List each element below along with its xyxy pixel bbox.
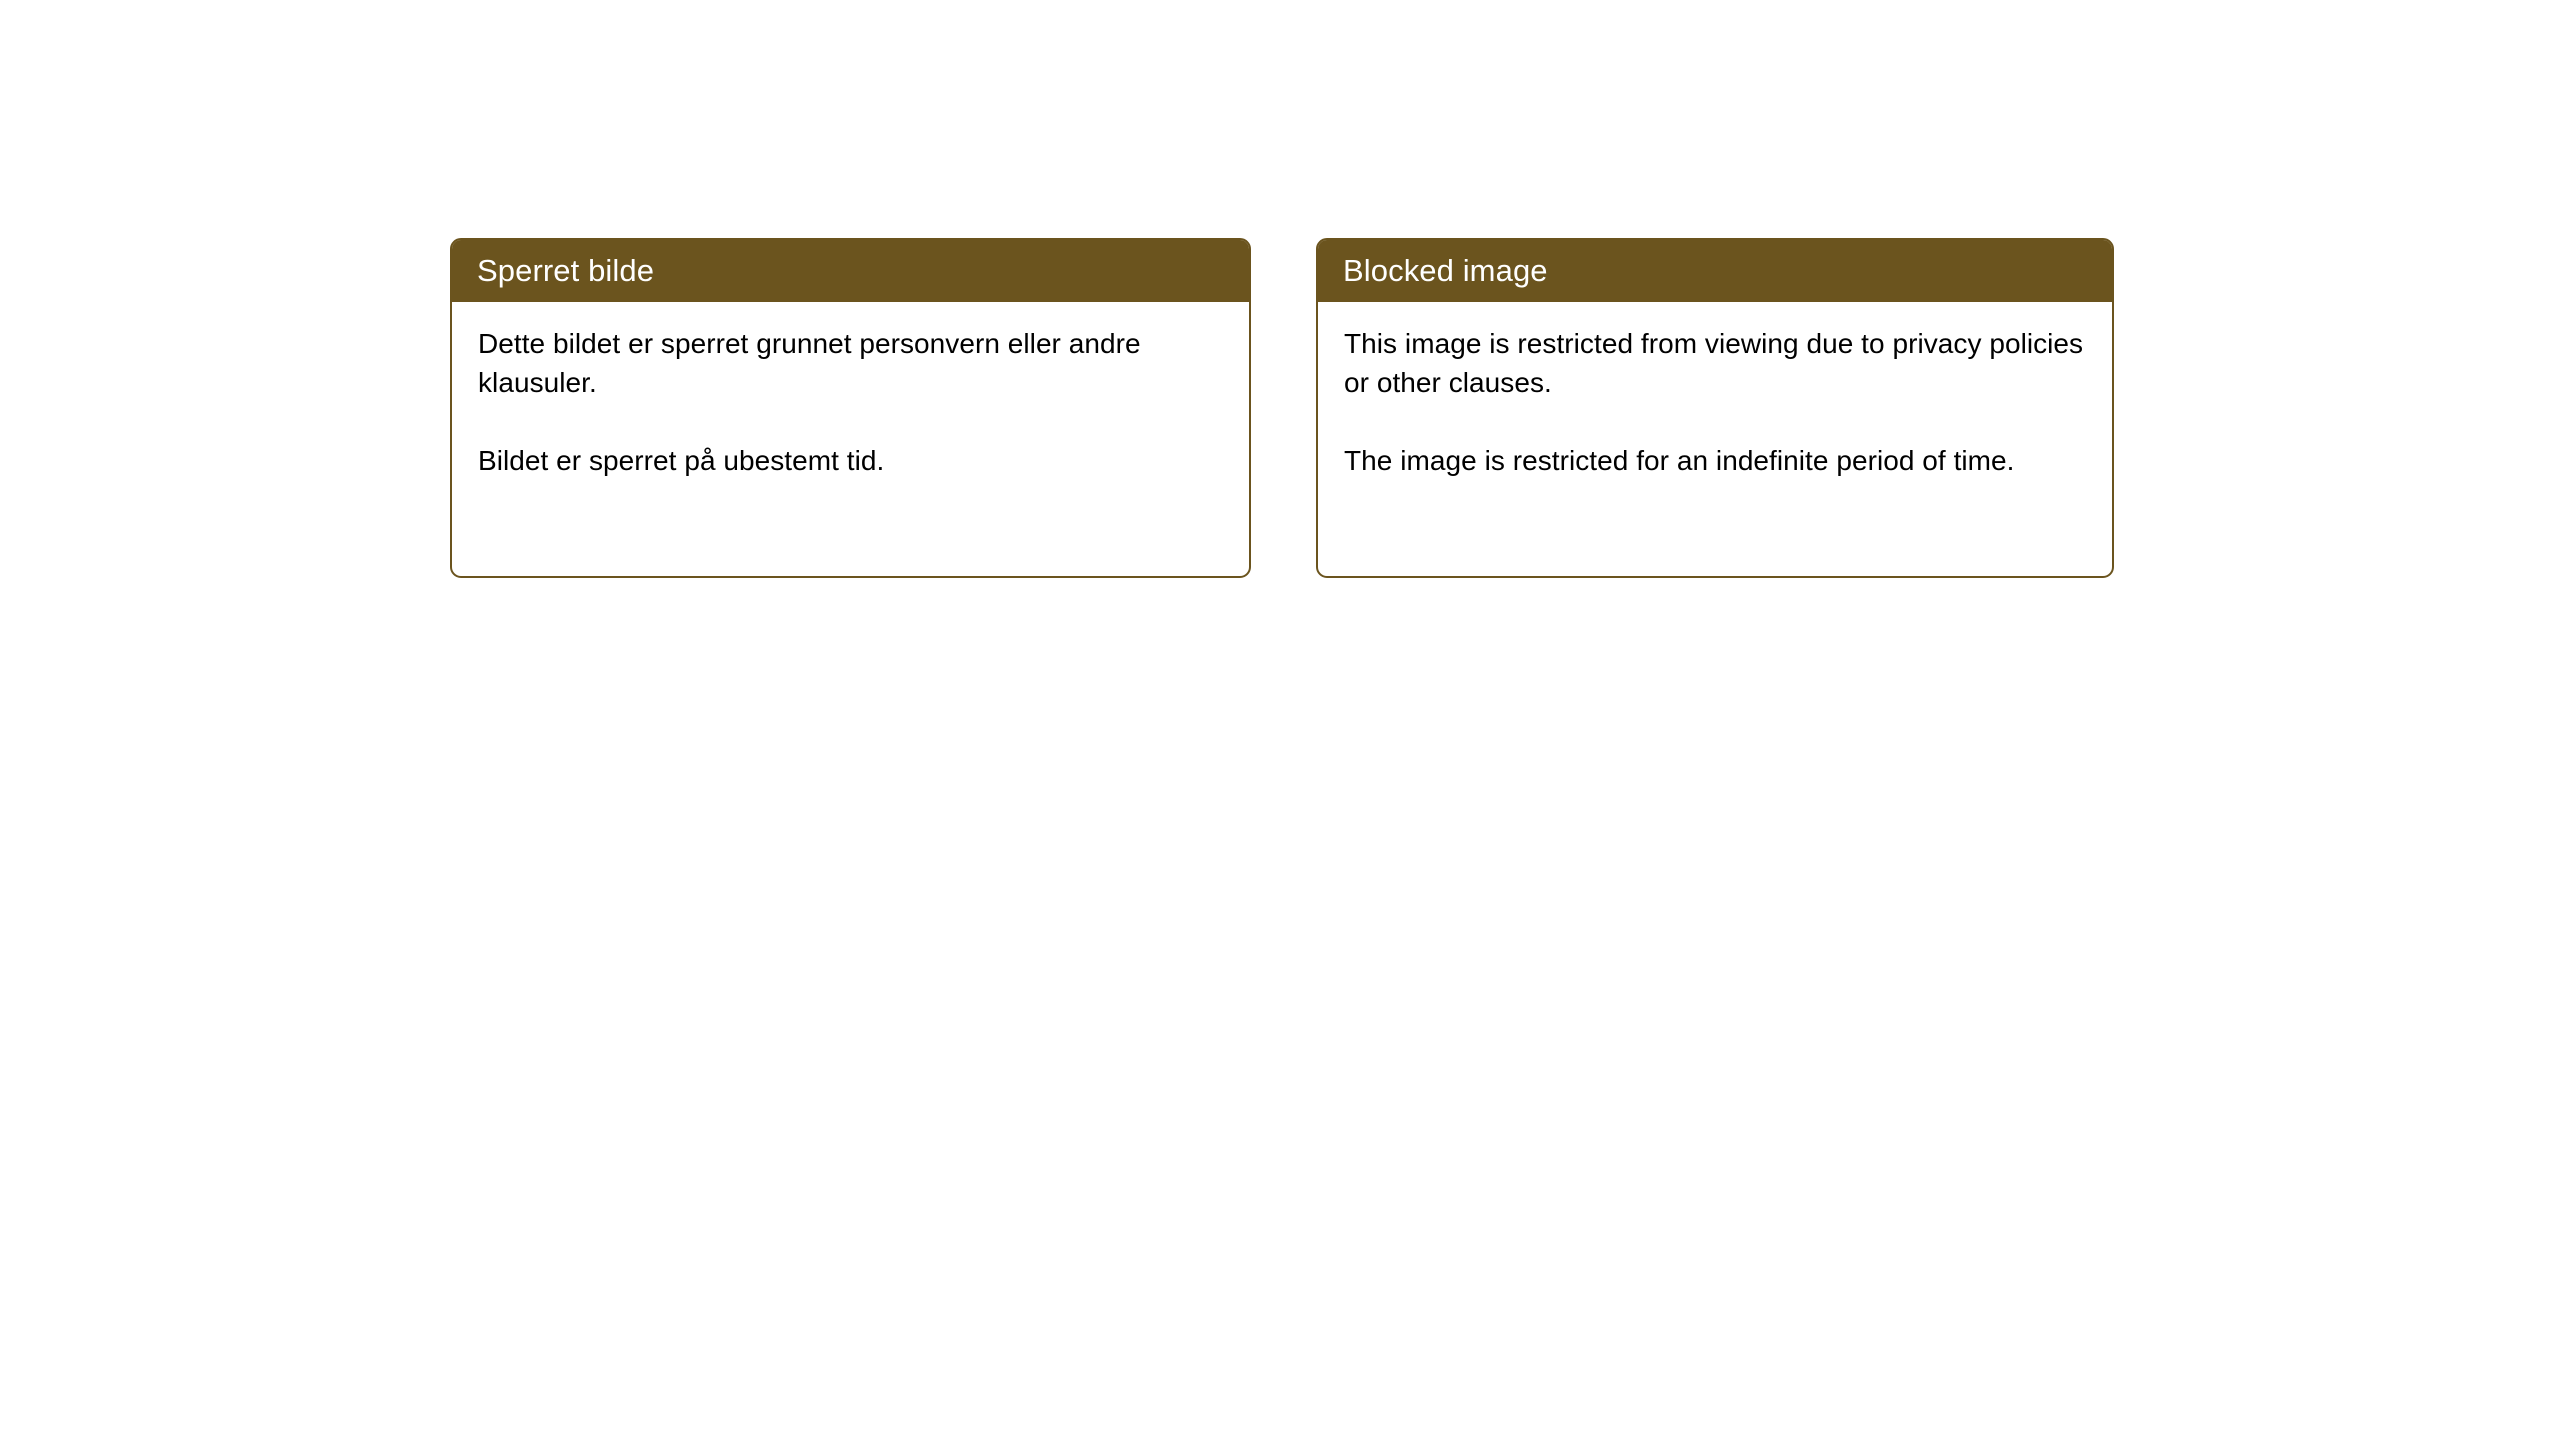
- notice-cards-row: Sperret bilde Dette bildet er sperret gr…: [450, 238, 2114, 578]
- card-title-norwegian: Sperret bilde: [477, 253, 654, 289]
- paragraph-spacer: [1344, 402, 2086, 441]
- card-body-english: This image is restricted from viewing du…: [1318, 302, 2112, 576]
- card-body-norwegian: Dette bildet er sperret grunnet personve…: [452, 302, 1249, 576]
- card-paragraph-reason-norwegian: Dette bildet er sperret grunnet personve…: [478, 324, 1223, 402]
- card-paragraph-duration-norwegian: Bildet er sperret på ubestemt tid.: [478, 441, 1223, 480]
- card-paragraph-reason-english: This image is restricted from viewing du…: [1344, 324, 2086, 402]
- card-paragraph-duration-english: The image is restricted for an indefinit…: [1344, 441, 2086, 480]
- card-header-norwegian: Sperret bilde: [452, 240, 1249, 302]
- page-root: Sperret bilde Dette bildet er sperret gr…: [0, 0, 2560, 1440]
- card-header-english: Blocked image: [1318, 240, 2112, 302]
- card-title-english: Blocked image: [1343, 253, 1548, 289]
- blocked-image-notice-card-norwegian: Sperret bilde Dette bildet er sperret gr…: [450, 238, 1251, 578]
- blocked-image-notice-card-english: Blocked image This image is restricted f…: [1316, 238, 2114, 578]
- paragraph-spacer: [478, 402, 1223, 441]
